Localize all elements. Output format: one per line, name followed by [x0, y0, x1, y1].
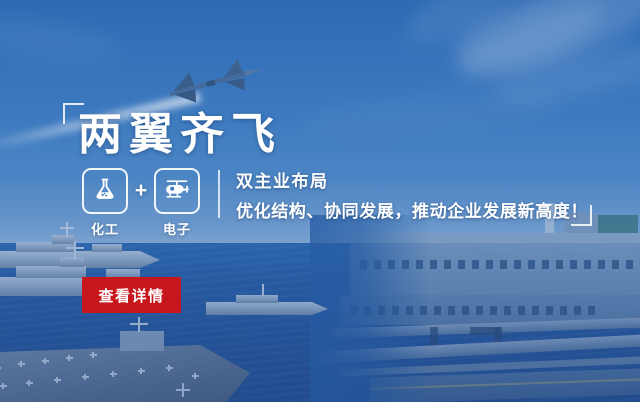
flask-icon — [92, 176, 118, 207]
promo-banner: 两翼齐飞 化工 — [0, 0, 640, 402]
view-details-button[interactable]: 查看详情 — [82, 277, 181, 313]
segment-label: 电子 — [154, 219, 200, 238]
tagline: 优化结构、协同发展，推动企业发展新高度！ — [236, 200, 588, 224]
banner-content: 两翼齐飞 化工 — [0, 0, 640, 402]
segment-electronics[interactable]: 电子 — [154, 168, 200, 238]
segment-badges: 化工 + — [82, 168, 200, 238]
vertical-divider — [218, 170, 220, 218]
headline: 两翼齐飞 — [78, 110, 282, 160]
segment-label: 化工 — [82, 219, 128, 238]
segment-icon-box — [154, 168, 200, 214]
segment-chemical[interactable]: 化工 — [82, 168, 128, 238]
helicopter-icon — [163, 176, 191, 207]
copy-block: 双主业布局 优化结构、协同发展，推动企业发展新高度！ — [236, 170, 588, 224]
plus-symbol: + — [128, 168, 154, 214]
segment-icon-box — [82, 168, 128, 214]
subheadline: 双主业布局 — [236, 170, 588, 194]
